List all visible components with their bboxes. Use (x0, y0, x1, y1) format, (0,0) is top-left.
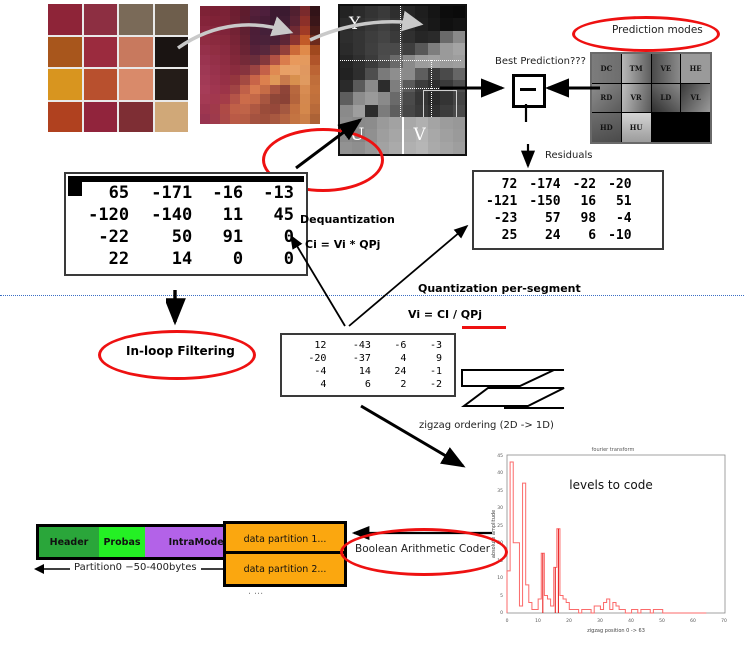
data-partition-2[interactable]: data partition 2... (223, 551, 347, 587)
svg-text:40: 40 (628, 618, 634, 624)
residuals-label: Residuals (545, 150, 592, 161)
matrix-row: 462-2 (288, 378, 448, 391)
svg-text:60: 60 (690, 618, 696, 624)
partition0-size-label: Partition0 −50-400bytes (70, 562, 201, 573)
matrix-row: 12-43-6-3 (288, 339, 448, 352)
svg-text:35: 35 (497, 488, 503, 494)
svg-text:5: 5 (500, 593, 503, 599)
quantization-flow-arrows (285, 222, 515, 342)
prediction-mode-cell[interactable]: VL (681, 84, 710, 113)
prediction-mode-label: VE (660, 64, 671, 73)
matrix-row: -41424-1 (288, 365, 448, 378)
matrix-row: -2250910 (72, 226, 300, 248)
matrix-top-marker (82, 176, 304, 182)
prediction-mode-cell-empty (681, 113, 710, 142)
svg-text:10: 10 (535, 618, 541, 624)
svg-text:70: 70 (721, 618, 727, 624)
data-partitions-ellipsis: . ... (248, 586, 263, 597)
subtract-node-arrows (440, 62, 640, 122)
prediction-mode-cell[interactable]: HE (681, 54, 710, 83)
matrix-row: 65-171-16-13 (72, 182, 300, 204)
prediction-modes-title: Prediction modes (612, 24, 703, 36)
dequantized-matrix: 65-171-16-13 -120-1401145 -2250910 22140… (64, 172, 308, 276)
matrix-row: -20-3749 (288, 352, 448, 365)
prediction-mode-cell-empty (652, 113, 681, 142)
inloop-filtering-label: In-loop Filtering (126, 344, 235, 358)
svg-text:50: 50 (659, 618, 665, 624)
chart-title: fourier transform (592, 447, 635, 453)
v-plane: V (404, 117, 466, 154)
quantized-matrix: 12-43-6-3 -20-3749 -41424-1 462-2 (280, 333, 456, 397)
source-image-mosaic (48, 4, 188, 132)
partition-block-label: Probas (103, 537, 140, 548)
levels-to-code-annotation: levels to code (569, 478, 652, 492)
partition-block-header[interactable]: Header (39, 527, 99, 557)
matrix-row: 72-174-22-20 (480, 176, 638, 193)
prediction-mode-label: VL (690, 93, 700, 102)
svg-text:0: 0 (506, 618, 509, 624)
levels-flow-arrow (355, 400, 485, 480)
inloop-arrow (166, 290, 186, 330)
chart-xlabel: zigzag position 0 -> 63 (587, 628, 645, 634)
svg-text:40: 40 (497, 470, 503, 476)
prediction-mode-label: HD (600, 123, 613, 132)
v-plane-label: V (414, 125, 426, 145)
prediction-mode-label: HU (630, 123, 643, 132)
matrix-row: 221400 (72, 248, 300, 270)
matrix-row: -120-1401145 (72, 204, 300, 226)
matrix-corner-marker (68, 176, 82, 196)
svg-text:10: 10 (497, 575, 503, 581)
svg-text:45: 45 (497, 453, 503, 459)
prediction-mode-cell[interactable]: VE (652, 54, 681, 83)
partition-block-label: Header (50, 537, 89, 548)
boolean-coder-label: Boolean Arithmetic Coder (355, 543, 490, 555)
partition-block-probas[interactable]: Probas (99, 527, 145, 557)
svg-text:20: 20 (566, 618, 572, 624)
svg-text:0: 0 (500, 610, 503, 616)
svg-text:30: 30 (597, 618, 603, 624)
yuv-feedback-arrow (288, 110, 408, 180)
prediction-mode-label: HE (690, 64, 702, 73)
partition-block-label: IntraModes (169, 537, 230, 548)
prediction-mode-cell[interactable]: LD (652, 84, 681, 113)
svg-text:30: 30 (497, 505, 503, 511)
data-partition-label: data partition 1... (244, 534, 327, 545)
matrix-row: -121-1501651 (480, 193, 638, 210)
prediction-mode-label: LD (660, 93, 671, 102)
levels-histogram-chart: fourier transform 45 40 35 30 25 20 15 1… (485, 442, 740, 642)
data-partition-label: data partition 2... (244, 564, 327, 575)
